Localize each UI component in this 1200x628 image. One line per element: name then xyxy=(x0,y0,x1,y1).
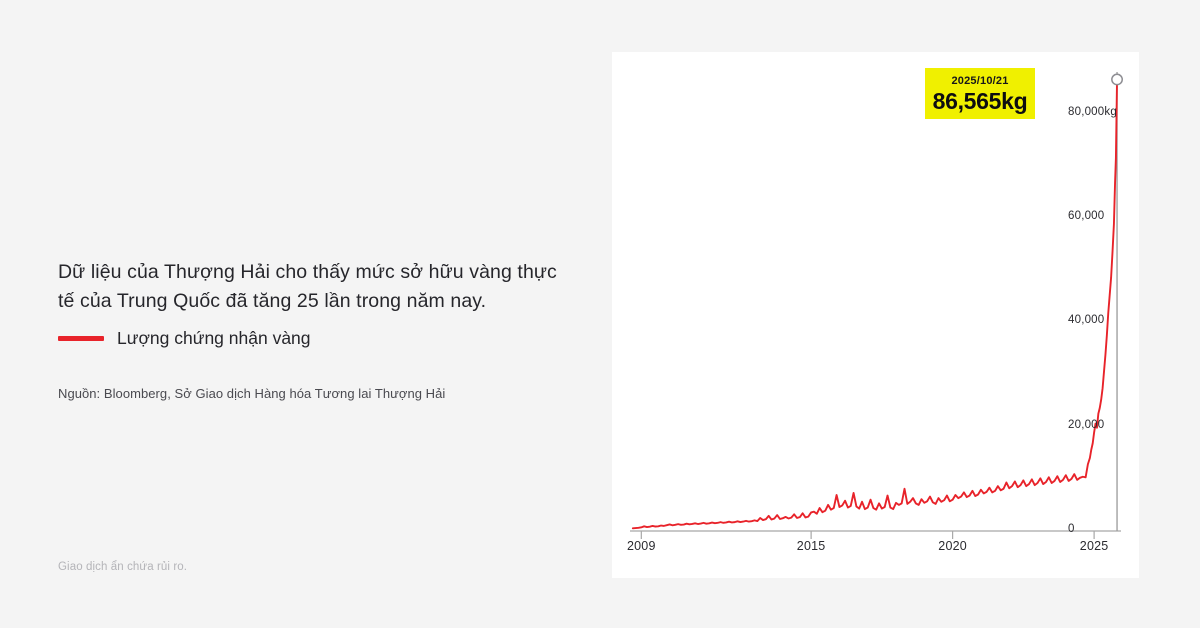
risk-disclaimer: Giao dịch ẩn chứa rủi ro. xyxy=(58,561,187,573)
y-axis-tick-0: 0 xyxy=(1068,523,1075,535)
peak-point-marker xyxy=(1112,74,1122,84)
page-title: Dữ liệu của Thượng Hải cho thấy mức sở h… xyxy=(58,258,568,316)
chart-legend: Lượng chứng nhận vàng xyxy=(58,328,311,348)
y-axis-tick-20000: 20,000 xyxy=(1068,419,1104,431)
value-callout: 2025/10/21 86,565kg xyxy=(925,68,1035,119)
line-chart-svg xyxy=(612,52,1139,578)
y-axis-tick-60000: 60,000 xyxy=(1068,210,1104,222)
y-axis-tick-80000: 80,000kg xyxy=(1068,106,1117,118)
y-axis-tick-40000: 40,000 xyxy=(1068,314,1104,326)
plot-area: 0 20,000 40,000 60,000 80,000kg 2009 201… xyxy=(612,52,1139,578)
text-column: Dữ liệu của Thượng Hải cho thấy mức sở h… xyxy=(58,0,578,628)
x-axis-tick-2025: 2025 xyxy=(1080,539,1109,553)
gold-certificate-series xyxy=(633,79,1117,528)
x-axis-tick-2015: 2015 xyxy=(797,539,826,553)
legend-line-swatch xyxy=(58,336,104,341)
legend-label: Lượng chứng nhận vàng xyxy=(117,328,311,348)
x-axis-tick-2020: 2020 xyxy=(938,539,967,553)
chart-panel: 0 20,000 40,000 60,000 80,000kg 2009 201… xyxy=(612,52,1139,578)
x-axis-tickmarks xyxy=(641,531,1094,539)
callout-date: 2025/10/21 xyxy=(951,75,1008,88)
callout-value: 86,565kg xyxy=(933,88,1028,114)
x-axis-tick-2009: 2009 xyxy=(627,539,656,553)
source-attribution: Nguồn: Bloomberg, Sở Giao dịch Hàng hóa … xyxy=(58,386,445,401)
